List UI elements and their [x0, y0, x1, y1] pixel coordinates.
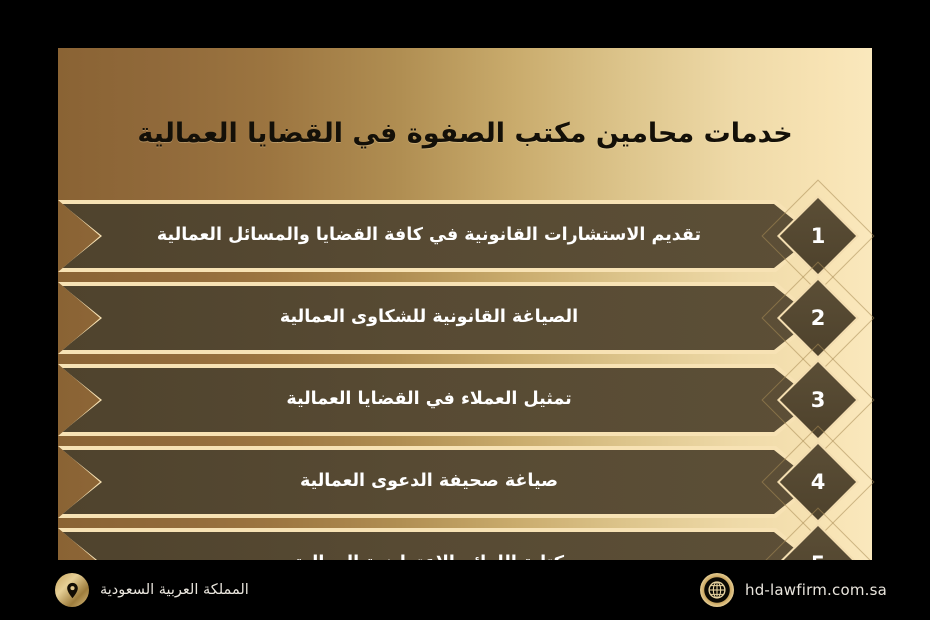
chevron-bar-fill: صياغة صحيفة الدعوى العمالية	[62, 450, 814, 514]
service-list: تقديم الاستشارات القانونية في كافة القضا…	[58, 200, 872, 610]
service-text: الصياغة القانونية للشكاوى العمالية	[62, 286, 814, 350]
chevron-bar-fill: تقديم الاستشارات القانونية في كافة القضا…	[62, 204, 814, 268]
infographic-canvas: خدمات محامين مكتب الصفوة في القضايا العم…	[0, 0, 930, 620]
chevron-bar-border: صياغة صحيفة الدعوى العمالية	[58, 446, 818, 518]
location-pin-icon	[55, 573, 89, 607]
chevron-bar-border: تمثيل العملاء في القضايا العمالية	[58, 364, 818, 436]
footer-website[interactable]: hd-lawfirm.com.sa	[700, 560, 887, 620]
list-item[interactable]: صياغة صحيفة الدعوى العمالية 4	[58, 446, 872, 518]
chevron-bar-border: تقديم الاستشارات القانونية في كافة القضا…	[58, 200, 818, 272]
globe-icon	[700, 573, 734, 607]
badge-number: 1	[789, 207, 847, 265]
list-item[interactable]: الصياغة القانونية للشكاوى العمالية 2	[58, 282, 872, 354]
chevron-bar-fill: تمثيل العملاء في القضايا العمالية	[62, 368, 814, 432]
footer-bar: المملكة العربية السعودية hd-lawfirm.com.…	[0, 560, 930, 620]
list-item[interactable]: تمثيل العملاء في القضايا العمالية 3	[58, 364, 872, 436]
content-panel: خدمات محامين مكتب الصفوة في القضايا العم…	[58, 48, 872, 560]
chevron-bar-fill: الصياغة القانونية للشكاوى العمالية	[62, 286, 814, 350]
badge-number: 4	[789, 453, 847, 511]
page-title: خدمات محامين مكتب الصفوة في القضايا العم…	[58, 118, 872, 149]
badge-number: 3	[789, 371, 847, 429]
number-badge: 2	[752, 278, 872, 358]
footer-location: المملكة العربية السعودية	[55, 560, 249, 620]
chevron-bar-border: الصياغة القانونية للشكاوى العمالية	[58, 282, 818, 354]
list-item[interactable]: تقديم الاستشارات القانونية في كافة القضا…	[58, 200, 872, 272]
service-text: تقديم الاستشارات القانونية في كافة القضا…	[62, 204, 814, 268]
number-badge: 4	[752, 442, 872, 522]
badge-number: 2	[789, 289, 847, 347]
number-badge: 1	[752, 196, 872, 276]
service-text: تمثيل العملاء في القضايا العمالية	[62, 368, 814, 432]
footer-website-label: hd-lawfirm.com.sa	[745, 581, 887, 599]
number-badge: 3	[752, 360, 872, 440]
footer-location-label: المملكة العربية السعودية	[100, 582, 249, 598]
service-text: صياغة صحيفة الدعوى العمالية	[62, 450, 814, 514]
